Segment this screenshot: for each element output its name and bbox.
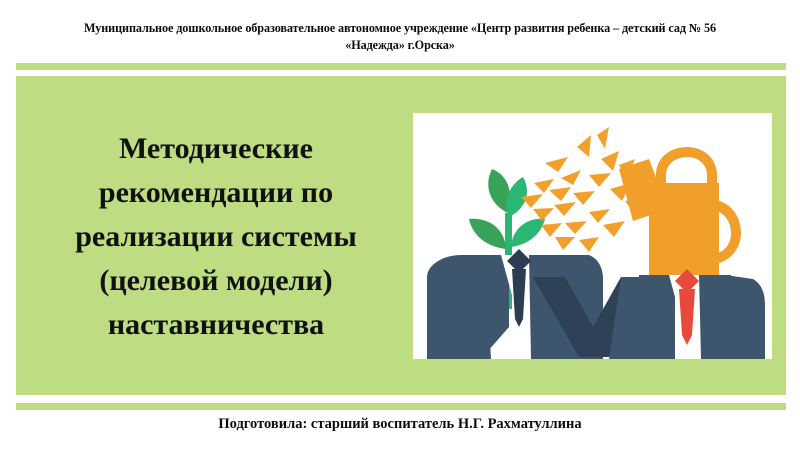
divider-bar-top bbox=[16, 63, 786, 70]
slide-canvas: Муниципальное дошкольное образовательное… bbox=[0, 0, 800, 450]
slide-title-text: Методические рекомендации по реализации … bbox=[30, 127, 402, 347]
author-footer: Подготовила: старший воспитатель Н.Г. Ра… bbox=[40, 416, 760, 433]
right-figure-left-lapel bbox=[639, 275, 675, 359]
institution-header-line-1: Муниципальное дошкольное образовательное… bbox=[40, 20, 760, 37]
illustration-panel bbox=[413, 113, 772, 359]
institution-header: Муниципальное дошкольное образовательное… bbox=[40, 20, 760, 54]
institution-header-line-2: «Надежда» г.Орска» bbox=[40, 37, 760, 54]
right-figure-right-arm bbox=[725, 275, 765, 359]
mentorship-illustration bbox=[413, 113, 772, 359]
slide-title: Методические рекомендации по реализации … bbox=[30, 92, 402, 382]
divider-bar-bottom bbox=[16, 403, 786, 410]
